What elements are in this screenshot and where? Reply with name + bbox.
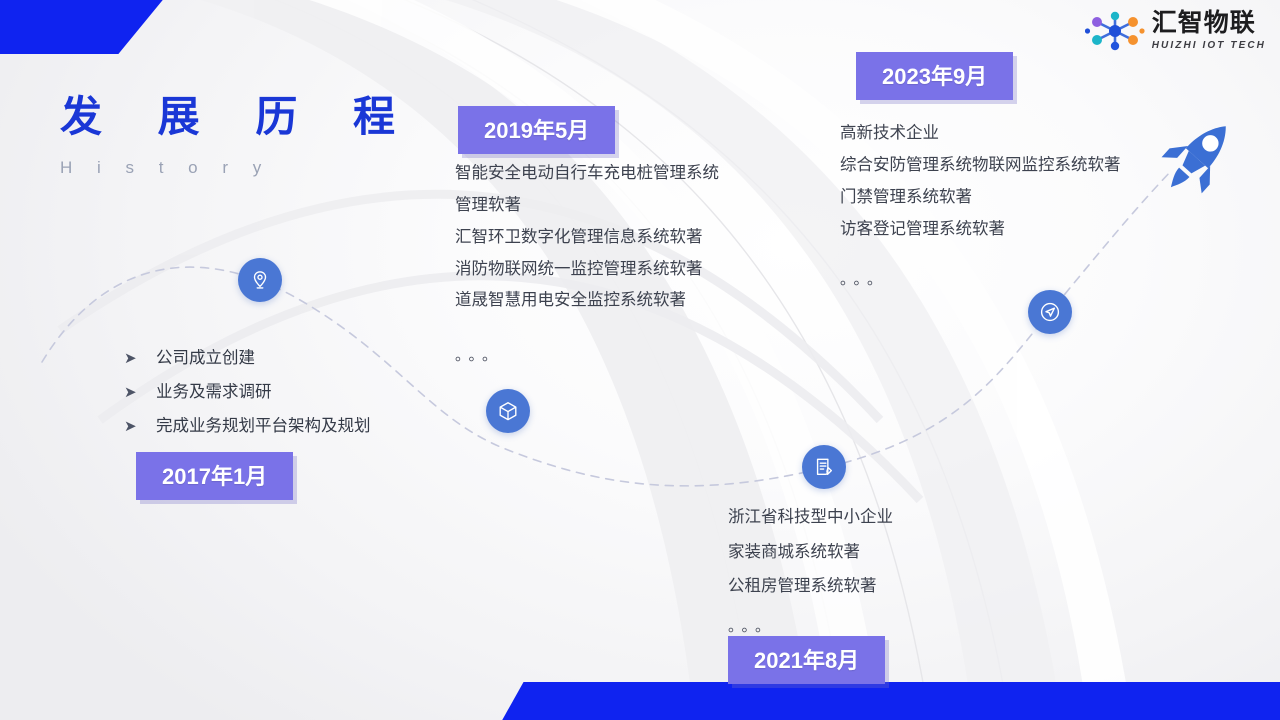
paper-plane-icon [1038,300,1062,324]
list-item: ➤业务及需求调研 [124,376,371,410]
ellipsis-2023: 。。。 [840,268,888,289]
list-item: 消防物联网统一监控管理系统软著 [455,254,719,286]
corner-accent-top-left [0,0,166,54]
list-item: ➤公司成立创建 [124,342,371,376]
list-item: 智能安全电动自行车充电桩管理系统 [455,158,719,190]
page-title-group: 发 展 历 程 H i s t o r y [60,96,417,178]
list-item: 汇智环卫数字化管理信息系统软著 [455,222,719,254]
list-item: 门禁管理系统软著 [840,182,1121,214]
date-badge-2017: 2017年1月 [136,452,293,500]
list-item: 道晟智慧用电安全监控系统软著 [455,285,719,317]
list-item: 高新技术企业 [840,118,1121,150]
molecule-network-icon [1085,10,1145,52]
list-item: 管理软著 [455,190,719,222]
list-item-label: 业务及需求调研 [156,376,272,410]
timeline-node-2019[interactable] [486,389,530,433]
list-item-label: 公司成立创建 [156,342,255,376]
list-item: 公租房管理系统软著 [728,569,893,604]
page-title: 发 展 历 程 [60,96,417,138]
timeline-node-2021[interactable] [802,445,846,489]
company-logo: 汇智物联 HUIZHI IOT TECH [1085,10,1266,52]
list-item: ➤完成业务规划平台架构及规划 [124,410,371,444]
list-item: 浙江省科技型中小企业 [728,500,893,535]
list-item: 家装商城系统软著 [728,535,893,570]
page-subtitle: H i s t o r y [60,158,417,178]
bullet-arrow-icon: ➤ [124,412,156,443]
location-pin-icon [249,269,271,291]
slide-root: 发 展 历 程 H i s t o r y 汇智物联 HUIZHI IOT TE… [0,0,1280,720]
ellipsis-2019: 。。。 [455,344,503,365]
timeline-node-2017[interactable] [238,258,282,302]
milestone-items-2019: 智能安全电动自行车充电桩管理系统 管理软著 汇智环卫数字化管理信息系统软著 消防… [455,158,719,317]
milestone-items-2023: 高新技术企业 综合安防管理系统物联网监控系统软著 门禁管理系统软著 访客登记管理… [840,118,1121,245]
corner-accent-bottom-right [500,682,1280,720]
date-badge-2023: 2023年9月 [856,52,1013,100]
ellipsis-2021: 。。。 [728,615,776,636]
bullet-arrow-icon: ➤ [124,378,156,409]
list-item: 综合安防管理系统物联网监控系统软著 [840,150,1121,182]
milestone-items-2021: 浙江省科技型中小企业 家装商城系统软著 公租房管理系统软著 [728,500,893,604]
logo-name-zh: 汇智物联 [1152,11,1266,36]
rocket-icon [1158,112,1240,200]
cube-icon [497,400,519,422]
date-badge-2021: 2021年8月 [728,636,885,684]
list-item-label: 完成业务规划平台架构及规划 [156,410,371,444]
date-badge-2019: 2019年5月 [458,106,615,154]
bullet-arrow-icon: ➤ [124,344,156,375]
timeline-node-2023[interactable] [1028,290,1072,334]
milestone-items-2017: ➤公司成立创建 ➤业务及需求调研 ➤完成业务规划平台架构及规划 [124,342,371,443]
list-item: 访客登记管理系统软著 [840,214,1121,246]
document-edit-icon [813,456,835,478]
logo-name-en: HUIZHI IOT TECH [1152,41,1266,51]
